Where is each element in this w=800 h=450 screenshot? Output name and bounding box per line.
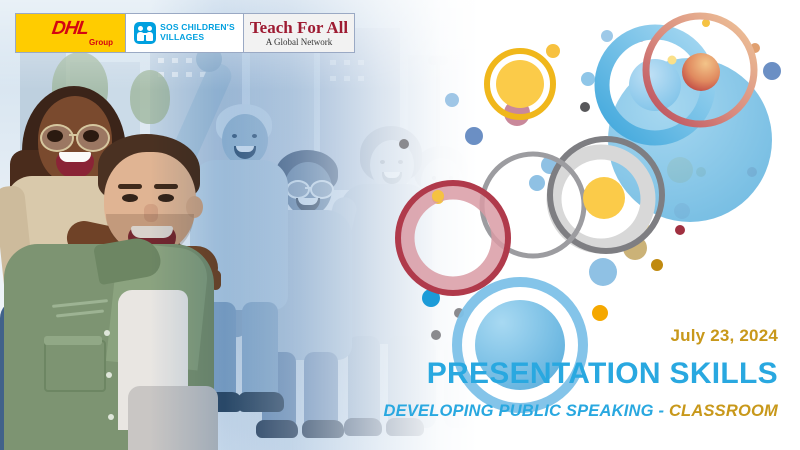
decor-dot bbox=[635, 29, 647, 41]
decor-dot bbox=[633, 223, 642, 232]
decor-dot bbox=[633, 223, 642, 232]
decor-ring-gray bbox=[550, 139, 662, 251]
decor-dot bbox=[634, 223, 644, 233]
decor-dot bbox=[633, 223, 642, 232]
decor-dot bbox=[636, 225, 645, 234]
decor-dot bbox=[634, 225, 643, 234]
decor-ring-gradient bbox=[646, 16, 754, 124]
decor-dot bbox=[696, 167, 706, 177]
decor-dot bbox=[633, 225, 642, 234]
decor-ring-lightgray bbox=[554, 152, 648, 246]
decor-dot bbox=[675, 225, 685, 235]
sos-wordmark: SOS CHILDREN'S VILLAGES bbox=[160, 23, 235, 43]
decor-dot bbox=[634, 29, 647, 42]
slide-subtitle: DEVELOPING PUBLIC SPEAKING - CLASSROOM bbox=[384, 402, 778, 420]
slide-date: July 23, 2024 bbox=[670, 326, 778, 346]
decor-dot bbox=[633, 223, 642, 232]
decor-dot bbox=[529, 175, 545, 191]
logo-sos-childrens-villages[interactable]: SOS CHILDREN'S VILLAGES bbox=[126, 14, 244, 52]
decor-dot bbox=[634, 223, 644, 233]
logo-dhl[interactable]: DHL Group bbox=[16, 14, 126, 52]
sos-line2: VILLAGES bbox=[160, 33, 235, 43]
decor-dot bbox=[763, 62, 781, 80]
decor-dot bbox=[633, 223, 642, 232]
subtitle-accent: CLASSROOM bbox=[669, 402, 778, 420]
decor-dot bbox=[581, 72, 595, 86]
decor-ring-blue bbox=[602, 32, 708, 138]
group-of-young-people-photo bbox=[0, 0, 480, 450]
decor-dot bbox=[589, 258, 617, 286]
decor-dot bbox=[637, 28, 649, 40]
decor-dot bbox=[634, 221, 644, 231]
dhl-wordmark: DHL bbox=[51, 19, 90, 38]
decor-dot bbox=[634, 222, 644, 232]
decor-dot bbox=[632, 222, 642, 232]
decor-dot bbox=[636, 224, 645, 233]
decor-dot bbox=[623, 236, 647, 260]
decor-dot bbox=[546, 44, 560, 58]
decor-dot bbox=[702, 19, 710, 27]
decor-dot bbox=[633, 223, 642, 232]
decor-dot bbox=[633, 223, 642, 232]
decor-dot bbox=[633, 223, 643, 233]
decor-ring-gray bbox=[482, 154, 584, 256]
decor-dot bbox=[633, 223, 642, 232]
decor-dot bbox=[634, 224, 644, 234]
decor-dot bbox=[634, 223, 643, 232]
decor-dot bbox=[634, 223, 644, 233]
decor-dot bbox=[634, 223, 644, 233]
decor-circle-blue-large bbox=[608, 58, 772, 222]
decor-dot bbox=[651, 259, 663, 271]
decor-dot bbox=[634, 30, 646, 42]
decor-dot bbox=[504, 100, 530, 126]
decor-dot bbox=[541, 156, 559, 174]
partner-logo-bar: DHL Group SOS CHILDREN'S VILLAGES Teach … bbox=[15, 13, 355, 53]
decor-circle-yellow-small bbox=[583, 177, 625, 219]
decor-dot bbox=[668, 56, 677, 65]
decor-dot bbox=[634, 223, 643, 232]
decor-ring-yellow bbox=[487, 51, 553, 117]
decor-circle-blue-inner bbox=[629, 59, 681, 111]
decor-dot bbox=[636, 223, 646, 233]
photo-top-fade bbox=[0, 0, 480, 450]
decor-circle-yellow bbox=[496, 60, 544, 108]
logo-teach-for-all[interactable]: Teach For All A Global Network bbox=[244, 14, 354, 52]
decor-dot bbox=[632, 223, 641, 232]
subtitle-primary: DEVELOPING PUBLIC SPEAKING - bbox=[384, 402, 669, 420]
tfa-wordmark: Teach For All bbox=[250, 19, 348, 36]
decor-dot bbox=[633, 223, 643, 233]
sos-house-icon bbox=[134, 22, 156, 44]
decor-dot bbox=[674, 203, 690, 219]
decor-dot bbox=[750, 43, 760, 53]
decor-dot bbox=[639, 221, 649, 231]
presentation-title-slide: DHL Group SOS CHILDREN'S VILLAGES Teach … bbox=[0, 0, 800, 450]
dhl-tagline: Group bbox=[89, 39, 113, 47]
decor-dot bbox=[634, 223, 644, 233]
decor-dot bbox=[747, 167, 757, 177]
tfa-tagline: A Global Network bbox=[266, 38, 333, 47]
decor-dot bbox=[592, 305, 608, 321]
decor-dot bbox=[633, 221, 643, 231]
decor-circle-gradient-ball bbox=[682, 53, 720, 91]
decor-dot bbox=[601, 30, 613, 42]
decor-dot bbox=[635, 222, 645, 232]
decor-dot bbox=[634, 223, 644, 233]
page-title: PRESENTATION SKILLS bbox=[427, 358, 778, 390]
decor-dot bbox=[667, 157, 693, 183]
decor-dot bbox=[580, 102, 590, 112]
